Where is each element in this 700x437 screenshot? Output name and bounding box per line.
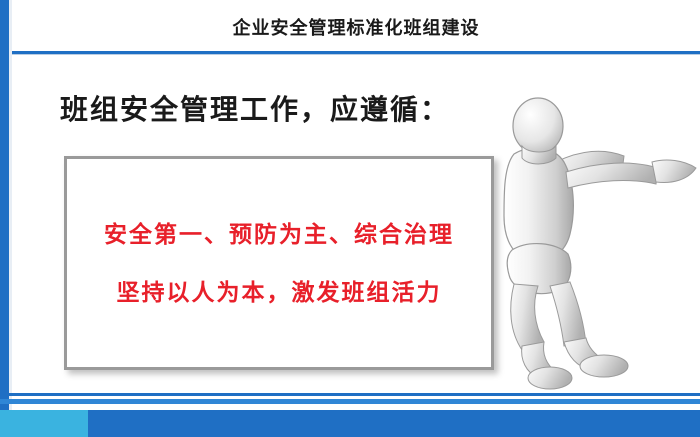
footer-bar-accent bbox=[0, 410, 88, 437]
headline-text: 班组安全管理工作，应遵循： bbox=[60, 88, 450, 128]
footer-bar bbox=[0, 410, 700, 437]
content-box-line-1: 安全第一、预防为主、综合治理 bbox=[67, 215, 491, 249]
page-title: 企业安全管理标准化班组建设 bbox=[12, 14, 700, 40]
slide-footer bbox=[0, 393, 700, 437]
footer-line-mid bbox=[0, 399, 700, 404]
content-box-line-2: 坚持以人为本，激发班组活力 bbox=[67, 273, 491, 307]
slide-header: 企业安全管理标准化班组建设 bbox=[12, 0, 700, 52]
mannequin-figure-icon bbox=[452, 88, 700, 390]
slide: 企业安全管理标准化班组建设 班组安全管理工作，应遵循： 安全第一、预防为主、综合… bbox=[0, 0, 700, 437]
figure-head bbox=[513, 98, 563, 154]
footer-line-top bbox=[0, 393, 700, 396]
left-accent-bar bbox=[0, 0, 9, 437]
figure-front-leg bbox=[550, 282, 628, 377]
header-divider-secondary bbox=[12, 54, 700, 55]
content-box: 安全第一、预防为主、综合治理 坚持以人为本，激发班组活力 bbox=[64, 156, 494, 370]
left-accent-bar-inner bbox=[9, 0, 12, 437]
